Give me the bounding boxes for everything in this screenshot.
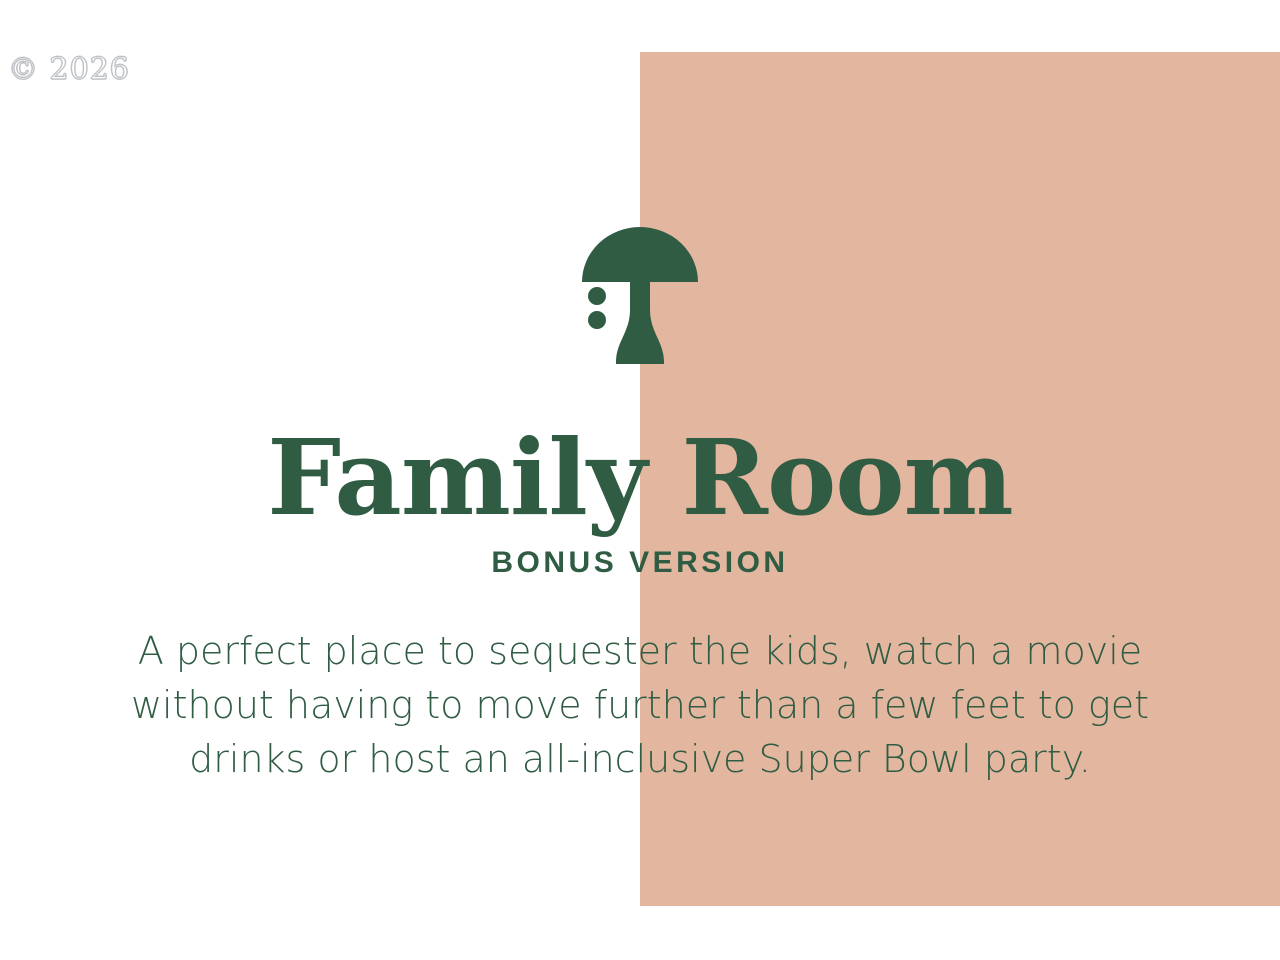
copyright-notice: © 2026 xyxy=(8,52,130,87)
mushroom-lamp-icon xyxy=(578,214,702,364)
slide-content: Family Room BONUS VERSION A perfect plac… xyxy=(0,0,1280,960)
subtitle-label: BONUS VERSION xyxy=(491,546,788,580)
body-description: A perfect place to sequester the kids, w… xyxy=(120,624,1160,786)
page-title: Family Room xyxy=(267,426,1012,530)
slide-canvas: © 2026 Family Room BONUS VERSION A perfe… xyxy=(0,0,1280,960)
